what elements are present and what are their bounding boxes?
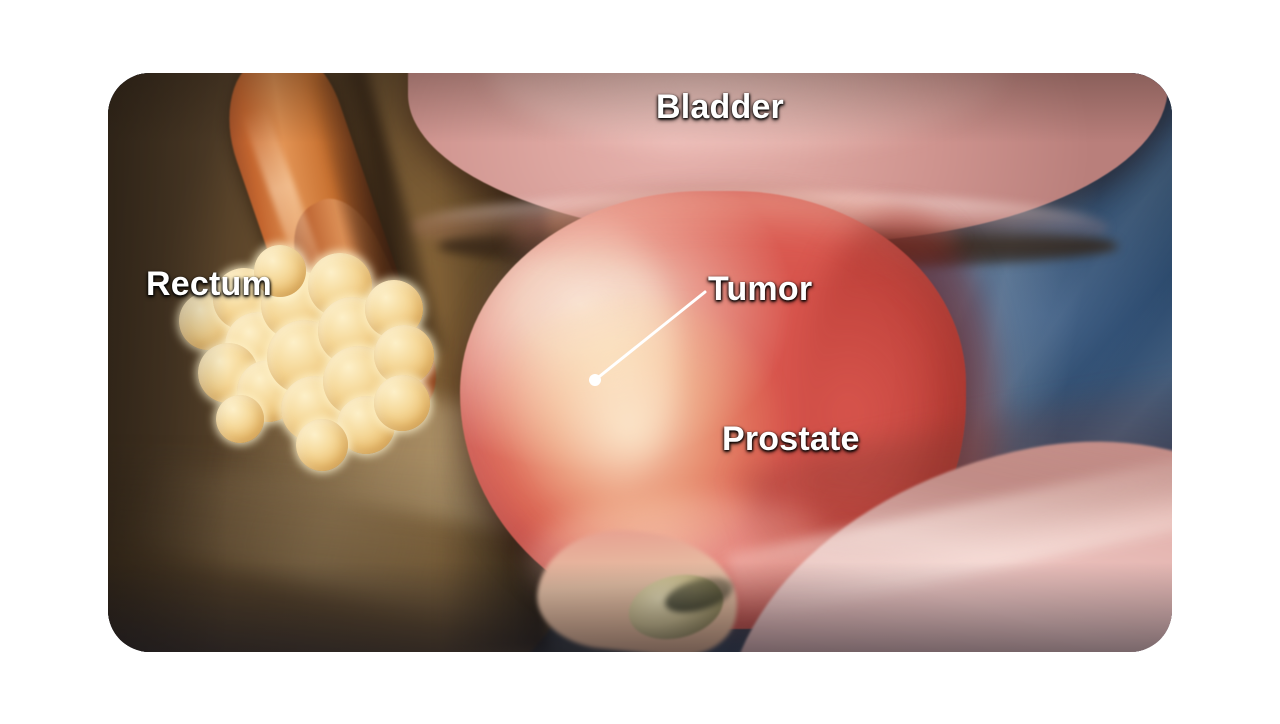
tumor-cell [374,375,430,431]
label-prostate: Prostate [722,420,860,459]
label-tumor: Tumor [708,270,812,309]
medical-illustration-figure: Bladder Rectum Tumor Prostate [108,73,1172,652]
page-root: Bladder Rectum Tumor Prostate [0,0,1280,724]
top-vignette [108,73,1172,143]
label-rectum: Rectum [146,265,272,304]
tumor-cell [296,419,348,471]
bottom-vignette [108,562,1172,652]
label-bladder: Bladder [656,88,784,127]
